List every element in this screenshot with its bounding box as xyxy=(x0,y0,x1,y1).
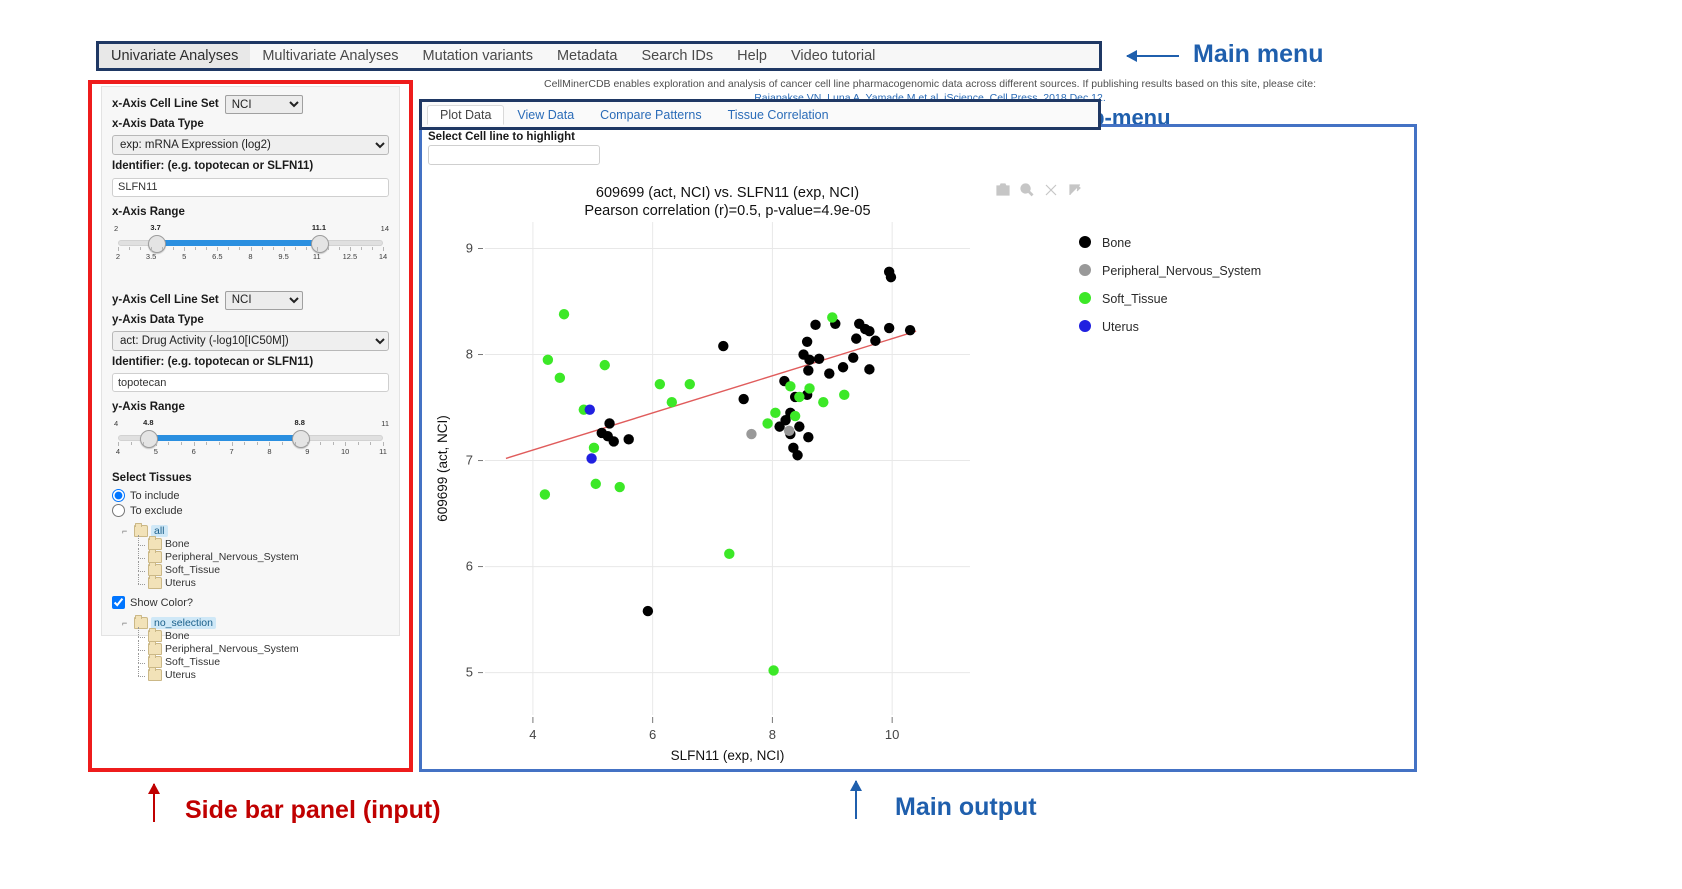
tab-view-data[interactable]: View Data xyxy=(504,105,587,125)
scatter-plot[interactable]: 609699 (act, NCI) vs. SLFN11 (exp, NCI)P… xyxy=(425,170,1410,765)
slider-minor-tick xyxy=(282,442,283,445)
x-axis-data-type-label: x-Axis Data Type xyxy=(112,117,389,132)
tissues-include-label: To include xyxy=(130,490,180,502)
scatter-plot-svg: 609699 (act, NCI) vs. SLFN11 (exp, NCI)P… xyxy=(425,170,1410,765)
data-point-bone[interactable] xyxy=(886,272,896,282)
slider-tick-label: 9 xyxy=(305,447,309,456)
slider-tick-mark xyxy=(383,442,384,446)
slider-minor-tick xyxy=(328,247,329,250)
y-axis-slider-value-low: 4.8 xyxy=(143,418,153,427)
x-axis-cellline-set-row: x-Axis Cell Line Set NCI xyxy=(112,95,389,114)
slider-tick-mark xyxy=(151,247,152,251)
data-point-soft_tissue[interactable] xyxy=(543,355,553,365)
slider-minor-tick xyxy=(358,442,359,445)
slider-tick-mark xyxy=(317,247,318,251)
slider-tick-mark xyxy=(232,442,233,446)
slider-tick-mark xyxy=(184,247,185,251)
data-point-soft_tissue[interactable] xyxy=(770,408,780,418)
data-point-soft_tissue[interactable] xyxy=(785,381,795,391)
y-axis-cellline-set-label: y-Axis Cell Line Set xyxy=(112,293,219,308)
tree-item-label: Bone xyxy=(165,630,190,642)
slider-minor-tick xyxy=(239,247,240,250)
x-tick-label: 6 xyxy=(649,727,656,742)
close-icon[interactable] xyxy=(1046,185,1056,195)
slider-minor-tick xyxy=(173,247,174,250)
slider-tick-mark xyxy=(194,442,195,446)
slider-tick-mark xyxy=(307,442,308,446)
data-point-soft_tissue[interactable] xyxy=(762,418,772,428)
slider-tick-label: 10 xyxy=(341,447,349,456)
y-axis-cellline-set-select[interactable]: NCI xyxy=(225,291,303,310)
slider-tick-label: 6.5 xyxy=(212,252,222,261)
legend-marker-bone[interactable] xyxy=(1079,236,1091,248)
legend-label-peripheral_nervous_system[interactable]: Peripheral_Nervous_System xyxy=(1102,264,1261,278)
x-axis-slider-fill xyxy=(156,240,319,246)
slider-tick-mark xyxy=(345,442,346,446)
data-point-soft_tissue[interactable] xyxy=(655,379,665,389)
data-point-soft_tissue[interactable] xyxy=(827,312,837,322)
annotation-arrow-main-menu xyxy=(1127,55,1179,57)
slider-minor-tick xyxy=(333,442,334,445)
y-axis-range-label: y-Axis Range xyxy=(112,400,389,415)
y-axis-range-max-label: 11 xyxy=(381,419,389,428)
menu-item-univariate-analyses[interactable]: Univariate Analyses xyxy=(99,44,250,68)
data-point-peripheral_nervous_system[interactable] xyxy=(746,429,756,439)
color-tree-item-uterus[interactable]: Uterus xyxy=(148,669,389,681)
y-axis-slider-fill xyxy=(148,435,299,441)
data-point-soft_tissue[interactable] xyxy=(591,479,601,489)
citation-line-1: CellMinerCDB enables exploration and ana… xyxy=(430,77,1430,91)
data-point-soft_tissue[interactable] xyxy=(615,482,625,492)
slider-tick-label: 8 xyxy=(248,252,252,261)
y-axis-data-type-select[interactable]: act: Drug Activity (-log10[IC50M]) xyxy=(112,331,389,351)
slider-tick-mark xyxy=(350,247,351,251)
slider-minor-tick xyxy=(306,247,307,250)
tissues-include-radio-row[interactable]: To include xyxy=(112,489,389,502)
data-point-bone[interactable] xyxy=(864,364,874,374)
x-axis-range-max-label: 14 xyxy=(381,224,389,233)
data-point-bone[interactable] xyxy=(848,353,858,363)
x-axis-identifier-label: Identifier: (e.g. topotecan or SLFN11) xyxy=(112,159,389,174)
tree-root-no-selection-label: no_selection xyxy=(151,617,216,629)
data-point-soft_tissue[interactable] xyxy=(600,360,610,370)
data-point-soft_tissue[interactable] xyxy=(724,549,734,559)
data-point-soft_tissue[interactable] xyxy=(839,390,849,400)
slider-minor-tick xyxy=(273,247,274,250)
tree-item-peripheral-nervous-system[interactable]: Peripheral_Nervous_System xyxy=(148,551,389,563)
slider-tick-label: 14 xyxy=(379,252,387,261)
y-tick-label: 7 xyxy=(466,453,473,468)
y-tick-label: 6 xyxy=(466,559,473,574)
select-tissues-heading: Select Tissues xyxy=(112,472,389,484)
slider-minor-tick xyxy=(168,442,169,445)
data-point-bone[interactable] xyxy=(792,450,802,460)
slider-minor-tick xyxy=(372,247,373,250)
slider-tick-mark xyxy=(118,247,119,251)
slider-tick-label: 7 xyxy=(229,447,233,456)
x-axis-range-label: x-Axis Range xyxy=(112,205,389,220)
slider-tick-mark xyxy=(383,247,384,251)
tab-plot-data[interactable]: Plot Data xyxy=(427,105,504,125)
color-tree-item-peripheral-nervous-system[interactable]: Peripheral_Nervous_System xyxy=(148,643,389,655)
cellline-highlight-label: Select Cell line to highlight xyxy=(428,131,575,143)
tissues-exclude-label: To exclude xyxy=(130,505,183,517)
data-point-bone[interactable] xyxy=(864,326,874,336)
y-axis-identifier-label: Identifier: (e.g. topotecan or SLFN11) xyxy=(112,355,389,370)
slider-minor-tick xyxy=(131,442,132,445)
tree-item-label: Peripheral_Nervous_System xyxy=(165,551,299,563)
annotation-label-main-menu: Main menu xyxy=(1193,40,1324,69)
data-point-bone[interactable] xyxy=(609,436,619,446)
tree-item-label: Uterus xyxy=(165,669,196,681)
tree-root-no-selection[interactable]: ⌐ no_selection xyxy=(122,617,389,629)
data-point-soft_tissue[interactable] xyxy=(589,443,599,453)
tree-item-uterus[interactable]: Uterus xyxy=(148,577,389,589)
plot-title-line-2: Pearson correlation (r)=0.5, p-value=4.9… xyxy=(584,203,870,219)
slider-tick-label: 8 xyxy=(267,447,271,456)
menu-item-help[interactable]: Help xyxy=(725,44,779,68)
data-point-bone[interactable] xyxy=(794,421,804,431)
data-point-bone[interactable] xyxy=(624,434,634,444)
tree-item-soft-tissue[interactable]: Soft_Tissue xyxy=(148,564,389,576)
menu-item-video-tutorial[interactable]: Video tutorial xyxy=(779,44,887,68)
y-axis-identifier-input[interactable] xyxy=(112,373,389,392)
data-point-bone[interactable] xyxy=(810,320,820,330)
tab-compare-patterns[interactable]: Compare Patterns xyxy=(587,105,714,125)
slider-tick-label: 5 xyxy=(182,252,186,261)
slider-minor-tick xyxy=(361,247,362,250)
slider-tick-label: 9.5 xyxy=(278,252,288,261)
show-color-checkbox[interactable] xyxy=(112,596,125,609)
legend-label-soft_tissue[interactable]: Soft_Tissue xyxy=(1102,292,1168,306)
annotation-arrow-sidebar xyxy=(153,784,155,822)
slider-minor-tick xyxy=(181,442,182,445)
slider-minor-tick xyxy=(206,442,207,445)
legend-marker-peripheral_nervous_system[interactable] xyxy=(1079,264,1091,276)
tissues-exclude-radio-row[interactable]: To exclude xyxy=(112,504,389,517)
annotation-label-main-output: Main output xyxy=(895,793,1037,822)
y-axis-cellline-set-row: y-Axis Cell Line Set NCI xyxy=(112,291,389,310)
slider-minor-tick xyxy=(206,247,207,250)
expander-icon[interactable]: ⌐ xyxy=(122,526,131,536)
x-axis-slider-ticks: 23.556.589.51112.514 xyxy=(118,247,383,264)
camera-icon[interactable] xyxy=(997,184,1009,195)
data-point-soft_tissue[interactable] xyxy=(794,392,804,402)
autoscale-icon[interactable] xyxy=(1070,185,1080,195)
slider-minor-tick xyxy=(129,247,130,250)
zoom-icon[interactable] xyxy=(1021,184,1033,196)
cellline-highlight-input[interactable] xyxy=(428,145,600,165)
x-axis-slider-value-high: 11.1 xyxy=(312,223,326,232)
slider-minor-tick xyxy=(257,442,258,445)
tissue-tree-color[interactable]: ⌐ no_selection Bone Peripheral_Nervous_S… xyxy=(122,617,389,681)
data-point-bone[interactable] xyxy=(814,354,824,364)
legend-marker-soft_tissue[interactable] xyxy=(1079,292,1091,304)
data-point-soft_tissue[interactable] xyxy=(540,489,550,499)
sidebar-panel: x-Axis Cell Line Set NCI x-Axis Data Typ… xyxy=(101,86,400,636)
tree-item-label: Peripheral_Nervous_System xyxy=(165,643,299,655)
slider-tick-label: 2 xyxy=(116,252,120,261)
expander-icon[interactable]: ⌐ xyxy=(122,618,131,628)
slider-minor-tick xyxy=(195,247,196,250)
y-axis-title: 609699 (act, NCI) xyxy=(435,415,450,522)
legend-marker-uterus[interactable] xyxy=(1079,320,1091,332)
sub-menu: Plot Data View Data Compare Patterns Tis… xyxy=(427,104,842,126)
slider-minor-tick xyxy=(295,247,296,250)
slider-tick-mark xyxy=(251,247,252,251)
tree-item-label: Soft_Tissue xyxy=(165,564,220,576)
plot-background xyxy=(485,222,970,715)
tree-root-all[interactable]: ⌐ all xyxy=(122,525,389,537)
y-axis-range-min-label: 4 xyxy=(114,419,118,428)
y-axis-slider-ticks: 4567891011 xyxy=(118,442,383,459)
slider-tick-label: 6 xyxy=(192,447,196,456)
folder-icon xyxy=(148,669,162,681)
slider-minor-tick xyxy=(162,247,163,250)
slider-minor-tick xyxy=(320,442,321,445)
slider-minor-tick xyxy=(140,247,141,250)
annotation-label-sidebar: Side bar panel (input) xyxy=(185,796,441,825)
slider-minor-tick xyxy=(370,442,371,445)
show-color-label: Show Color? xyxy=(130,597,193,609)
tree-item-label: Uterus xyxy=(165,577,196,589)
x-tick-label: 4 xyxy=(529,727,536,742)
color-tree-item-soft-tissue[interactable]: Soft_Tissue xyxy=(148,656,389,668)
data-point-bone[interactable] xyxy=(870,336,880,346)
x-tick-label: 10 xyxy=(885,727,899,742)
slider-tick-mark xyxy=(217,247,218,251)
main-menu: Univariate Analyses Multivariate Analyse… xyxy=(99,44,1099,68)
plot-title-line-1: 609699 (act, NCI) vs. SLFN11 (exp, NCI) xyxy=(596,185,859,201)
data-point-uterus[interactable] xyxy=(585,404,595,414)
x-axis-slider-value-low: 3.7 xyxy=(150,223,160,232)
folder-icon xyxy=(148,577,162,589)
data-point-bone[interactable] xyxy=(905,325,915,335)
tree-item-label: Bone xyxy=(165,538,190,550)
x-axis-cellline-set-label: x-Axis Cell Line Set xyxy=(112,97,219,112)
x-axis-range-slider[interactable]: 2 14 3.7 11.1 23.556.589.51112.514 xyxy=(112,223,389,265)
tissues-include-radio[interactable] xyxy=(112,489,125,502)
data-point-soft_tissue[interactable] xyxy=(768,665,778,675)
x-tick-label: 8 xyxy=(769,727,776,742)
menu-item-metadata[interactable]: Metadata xyxy=(545,44,629,68)
y-tick-label: 8 xyxy=(466,347,473,362)
data-point-soft_tissue[interactable] xyxy=(667,397,677,407)
slider-tick-label: 5 xyxy=(154,447,158,456)
y-tick-label: 9 xyxy=(466,241,473,256)
folder-icon xyxy=(134,617,148,629)
data-point-soft_tissue[interactable] xyxy=(804,383,814,393)
slider-minor-tick xyxy=(228,247,229,250)
menu-item-mutation-variants[interactable]: Mutation variants xyxy=(411,44,545,68)
slider-tick-label: 12.5 xyxy=(343,252,358,261)
x-axis-title: SLFN11 (exp, NCI) xyxy=(671,748,785,763)
x-axis-identifier-input[interactable] xyxy=(112,178,389,197)
annotation-arrow-main-output xyxy=(855,781,857,819)
data-point-soft_tissue[interactable] xyxy=(685,379,695,389)
slider-tick-label: 3.5 xyxy=(146,252,156,261)
tree-item-label: Soft_Tissue xyxy=(165,656,220,668)
data-point-bone[interactable] xyxy=(802,337,812,347)
slider-tick-label: 11 xyxy=(379,447,387,456)
data-point-peripheral_nervous_system[interactable] xyxy=(784,426,794,436)
slider-tick-mark xyxy=(284,247,285,251)
data-point-soft_tissue[interactable] xyxy=(559,309,569,319)
y-axis-slider-value-high: 8.8 xyxy=(294,418,304,427)
data-point-bone[interactable] xyxy=(718,341,728,351)
data-point-bone[interactable] xyxy=(804,355,814,365)
x-axis-cellline-set-select[interactable]: NCI xyxy=(225,95,303,114)
legend-label-bone[interactable]: Bone xyxy=(1102,236,1131,250)
show-color-row[interactable]: Show Color? xyxy=(112,596,389,609)
data-point-bone[interactable] xyxy=(803,432,813,442)
color-tree-item-bone[interactable]: Bone xyxy=(148,630,389,642)
menu-item-multivariate-analyses[interactable]: Multivariate Analyses xyxy=(250,44,410,68)
data-point-bone[interactable] xyxy=(884,323,894,333)
data-point-soft_tissue[interactable] xyxy=(555,373,565,383)
x-axis-range-min-label: 2 xyxy=(114,224,118,233)
y-axis-data-type-label: y-Axis Data Type xyxy=(112,313,389,328)
tree-item-bone[interactable]: Bone xyxy=(148,538,389,550)
data-point-bone[interactable] xyxy=(738,394,748,404)
menu-item-search-ids[interactable]: Search IDs xyxy=(629,44,725,68)
slider-minor-tick xyxy=(244,442,245,445)
data-point-soft_tissue[interactable] xyxy=(790,411,800,421)
slider-minor-tick xyxy=(295,442,296,445)
data-point-bone[interactable] xyxy=(643,606,653,616)
y-axis-range-slider[interactable]: 4 11 4.8 8.8 4567891011 xyxy=(112,418,389,460)
slider-minor-tick xyxy=(339,247,340,250)
data-point-bone[interactable] xyxy=(774,421,784,431)
slider-tick-mark xyxy=(118,442,119,446)
data-point-bone[interactable] xyxy=(824,368,834,378)
tissues-exclude-radio[interactable] xyxy=(112,504,125,517)
y-tick-label: 5 xyxy=(466,665,473,680)
data-point-uterus[interactable] xyxy=(586,453,596,463)
data-point-bone[interactable] xyxy=(838,362,848,372)
slider-tick-label: 11 xyxy=(313,252,321,261)
slider-tick-mark xyxy=(156,442,157,446)
data-point-soft_tissue[interactable] xyxy=(818,397,828,407)
tissue-tree-include[interactable]: ⌐ all Bone Peripheral_Nervous_System Sof… xyxy=(122,525,389,589)
slider-tick-label: 4 xyxy=(116,447,120,456)
slider-minor-tick xyxy=(219,442,220,445)
data-point-bone[interactable] xyxy=(851,333,861,343)
slider-tick-mark xyxy=(269,442,270,446)
slider-minor-tick xyxy=(262,247,263,250)
slider-minor-tick xyxy=(143,442,144,445)
data-point-bone[interactable] xyxy=(604,418,614,428)
tab-tissue-correlation[interactable]: Tissue Correlation xyxy=(715,105,842,125)
legend-label-uterus[interactable]: Uterus xyxy=(1102,320,1139,334)
folder-icon xyxy=(134,525,148,537)
data-point-bone[interactable] xyxy=(803,365,813,375)
x-axis-data-type-select[interactable]: exp: mRNA Expression (log2) xyxy=(112,135,389,155)
